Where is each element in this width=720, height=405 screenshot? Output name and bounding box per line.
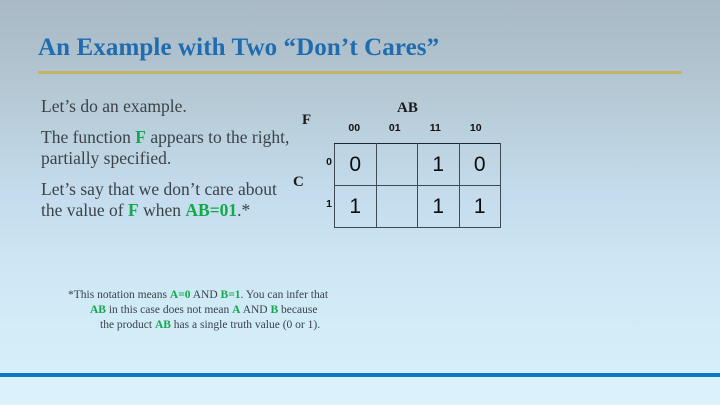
body-paragraph-3-tail: .* [237, 200, 250, 220]
kmap-cell-r0-c11: 1 [418, 144, 460, 186]
footnote-b-token: B [270, 304, 278, 316]
footnote-line-2-tail: because [278, 304, 317, 316]
footnote-ab-token: AB [90, 304, 106, 316]
kmap-column-header-00: 00 [334, 122, 375, 134]
kmap-column-header-11: 11 [415, 122, 456, 134]
footnote-line-1: *This notation means A=0 AND B=1. You ca… [68, 288, 498, 303]
body-paragraph-1: Let’s do an example. [41, 96, 293, 118]
slide-canvas: An Example with Two “Don’t Cares” Let’s … [0, 0, 720, 405]
body-paragraph-3-mid: when [139, 200, 186, 220]
kmap-cell-r0-c10: 0 [459, 144, 501, 186]
kmap-cell-r0-c01 [376, 144, 418, 186]
function-name-f-2: F [128, 200, 139, 220]
footnote-line-2-lead: in this case does not mean [106, 304, 232, 316]
footnote-line-2: AB in this case does not mean A AND B be… [68, 303, 498, 318]
page-title: An Example with Two “Don’t Cares” [38, 34, 439, 62]
body-text-column: Let’s do an example. The function F appe… [41, 96, 293, 231]
kmap-cell-r1-c01 [376, 186, 418, 228]
kmap-column-headers: 00 01 11 10 [334, 122, 496, 134]
kmap-cell-r1-c10: 1 [459, 186, 501, 228]
body-paragraph-2-lead: The function [41, 127, 135, 147]
kmap-column-header-01: 01 [375, 122, 416, 134]
footnote-line-1-and: AND [191, 289, 221, 301]
body-paragraph-3: Let’s say that we don’t care about the v… [41, 179, 293, 222]
condition-ab-equals-01: AB=01 [185, 200, 237, 220]
footnote-b-equals-1: B=1 [221, 289, 241, 301]
kmap-cell-r1-c00: 1 [335, 186, 377, 228]
karnaugh-map: F AB C 00 01 11 10 0 1 0 1 0 1 1 1 [286, 98, 516, 238]
kmap-cell-r0-c00: 0 [335, 144, 377, 186]
kmap-column-header-10: 10 [456, 122, 497, 134]
kmap-cell-r1-c11: 1 [418, 186, 460, 228]
kmap-row-header-0: 0 [316, 156, 332, 168]
footnote-line-3-tail: has a single truth value (0 or 1). [171, 319, 320, 331]
footnote-line-1-tail: . You can infer that [241, 289, 329, 301]
kmap-row-headers: 0 1 [316, 143, 332, 227]
footnote-line-3: the product AB has a single truth value … [68, 318, 498, 333]
function-name-f: F [135, 127, 146, 147]
footnote-line-1-lead: *This notation means [68, 289, 170, 301]
kmap-row-header-1: 1 [316, 198, 332, 210]
kmap-row-group-label: C [293, 174, 304, 191]
footnote-a-equals-0: A=0 [170, 289, 191, 301]
body-paragraph-1-text: Let’s do an example. [41, 96, 187, 116]
table-row: 1 1 1 [335, 186, 501, 228]
footnote-line-3-lead: the product [100, 319, 155, 331]
footnote: *This notation means A=0 AND B=1. You ca… [68, 288, 498, 334]
body-paragraph-2: The function F appears to the right, par… [41, 127, 293, 170]
kmap-grid: 0 1 0 1 1 1 [334, 143, 501, 228]
title-divider [38, 71, 682, 74]
footnote-ab-token-2: AB [155, 319, 171, 331]
footer: ECE 120: Introduction to Computing © 201… [0, 377, 720, 405]
kmap-function-label: F [302, 112, 311, 129]
table-row: 0 1 0 [335, 144, 501, 186]
kmap-column-group-label: AB [397, 100, 418, 117]
footnote-line-2-and: AND [240, 304, 270, 316]
